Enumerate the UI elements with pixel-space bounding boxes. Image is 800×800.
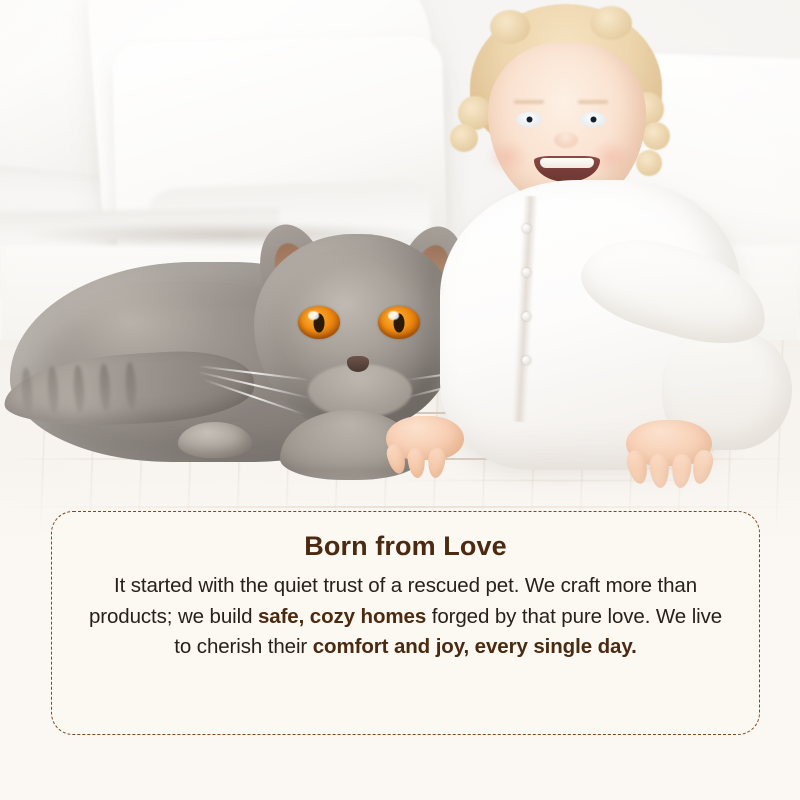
baby-brow-left [514, 100, 544, 104]
baby [430, 0, 800, 500]
baby-brow-right [578, 100, 608, 104]
card-body-bold1: safe, cozy homes [258, 605, 426, 628]
baby-cheek-left [486, 140, 528, 174]
card-body-bold2: comfort and joy, every single day. [313, 635, 637, 658]
story-card: Born from Love It started with the quiet… [51, 511, 760, 735]
cat-eye-left [298, 306, 340, 339]
baby-eye-right [580, 112, 606, 127]
baby-nose [554, 132, 578, 148]
cat-front-paw-left [178, 422, 252, 458]
card-title: Born from Love [86, 530, 725, 562]
card-body: It started with the quiet trust of a res… [86, 571, 725, 662]
hero-photo [0, 0, 800, 560]
promo-card-image: Born from Love It started with the quiet… [0, 0, 800, 800]
baby-eye-left [516, 112, 542, 127]
cat-eye-right [378, 306, 420, 339]
